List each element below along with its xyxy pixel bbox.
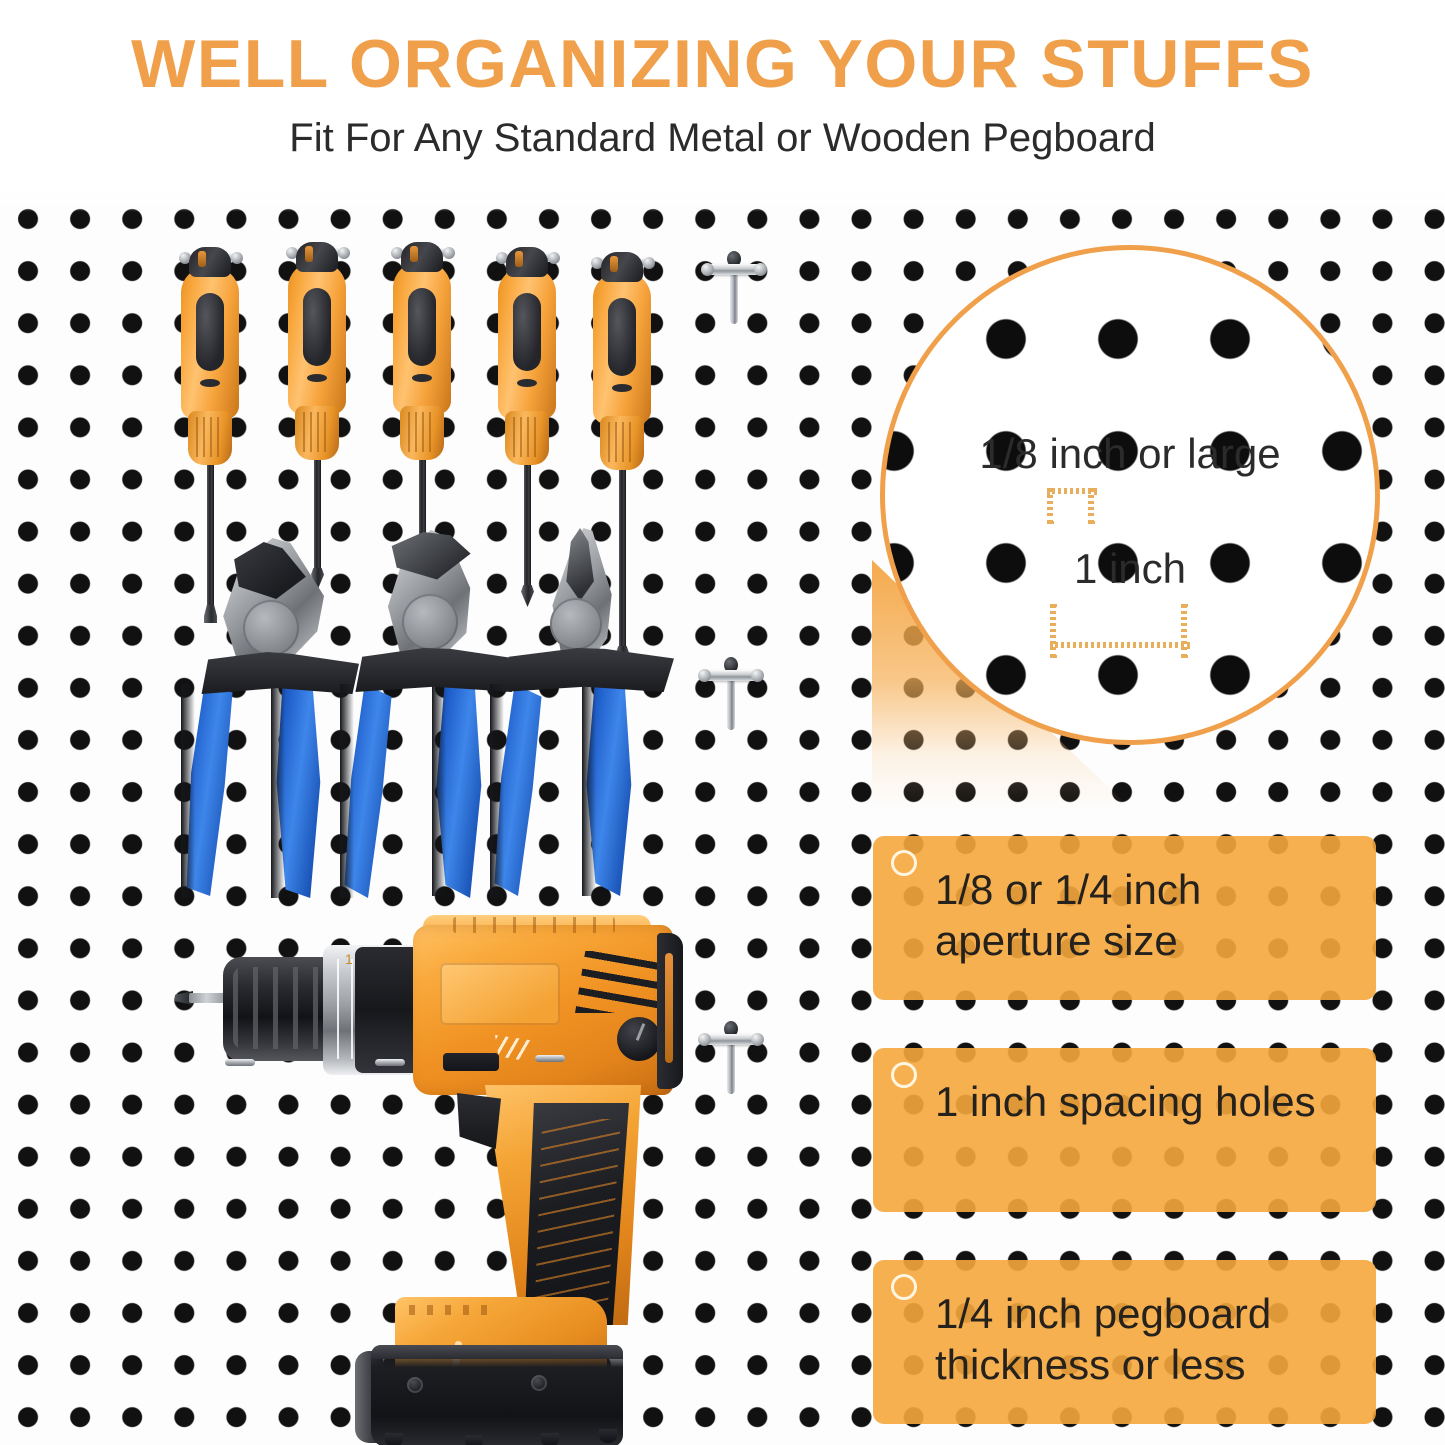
drill-battery-screw [407, 1377, 423, 1393]
peg-hook-wire [225, 1059, 255, 1066]
peg-hook-tip-left [701, 263, 714, 276]
screwdriver-grip-insert [408, 288, 436, 366]
drill-battery-top-edge [371, 1345, 623, 1359]
screwdriver-cap-slot [198, 251, 206, 267]
drill-battery-screw [531, 1375, 547, 1391]
feature-text: 1 inch spacing holes [935, 1076, 1355, 1127]
drill-rear-accent [665, 953, 673, 1063]
drill-top-ribs [453, 917, 615, 933]
screwdriver-cap [401, 242, 443, 272]
screwdriver-grip-accent [200, 379, 220, 387]
bullet-ring-icon [891, 1274, 917, 1300]
pliers-handle-edge-right [432, 682, 446, 896]
feature-box-aperture-size[interactable]: 1/8 or 1/4 inch aperture size [873, 836, 1376, 1000]
product-infographic: 1 1 1 1 1 1 1 GFA6-GF30A3E8G+ [0, 0, 1445, 1445]
pegboard-top-fade [0, 178, 1445, 212]
screwdriver-grip-accent [307, 374, 327, 382]
pliers-pivot [243, 600, 299, 656]
cordless-drill: 1 1 1 1 1 1 1 GFA6-GF30A3E8G+ [195, 905, 735, 1445]
drill-chuck-ring [355, 947, 421, 1073]
pliers-handle-edge-right [582, 682, 596, 896]
screwdriver-shaft [207, 461, 214, 611]
peg-hook-tip-right [751, 1033, 764, 1046]
peg-hook-tip-right [751, 669, 764, 682]
screwdriver-ribs [196, 417, 224, 457]
screwdriver-grip-accent [412, 374, 432, 382]
guide-line-bottom [1050, 642, 1190, 648]
screwdriver-shaft [619, 466, 626, 652]
pliers-pivot [550, 598, 602, 650]
guide-line-left [1050, 604, 1056, 658]
peg-hook-stem [730, 268, 738, 324]
screwdriver-shaft [524, 461, 531, 591]
feature-box-hole-spacing[interactable]: 1 inch spacing holes [873, 1048, 1376, 1212]
screwdriver-cap [296, 242, 338, 272]
peg-hook-tip-left [698, 669, 711, 682]
guide-line-left [1047, 488, 1053, 524]
pliers-pivot [402, 594, 458, 650]
screwdriver-ribs [303, 412, 331, 452]
peg-hook-wire [375, 1059, 405, 1066]
bullet-ring-icon [891, 850, 917, 876]
page-subtitle: Fit For Any Standard Metal or Wooden Peg… [0, 118, 1445, 158]
peg-hook-tip-right [443, 247, 455, 259]
screwdriver-ribs [408, 412, 436, 452]
drill-side-panel [440, 963, 560, 1025]
peg-hook-tip-right [338, 247, 350, 259]
magnifier-lens [880, 245, 1380, 745]
peg-hook-tip-right [643, 257, 655, 269]
peg-hook-tip-right [548, 252, 560, 264]
peg-hook-tip-right [231, 252, 243, 264]
peg-hook-tip-right [754, 263, 767, 276]
screwdriver-shaft [314, 456, 321, 574]
guide-line-right [1088, 488, 1094, 524]
drill-trigger [457, 1093, 501, 1149]
screwdriver-grip-accent [517, 379, 537, 387]
drill-battery-vent-dots [409, 1305, 489, 1315]
screwdriver-ribs [608, 422, 636, 462]
peg-hook-wire [535, 1055, 565, 1062]
pliers-handle-edge-right [271, 684, 285, 898]
screwdriver-grip-insert [196, 293, 224, 371]
drill-battery-foot [465, 1435, 483, 1445]
screwdriver-cap-slot [515, 251, 523, 267]
header-band: WELL ORGANIZING YOUR STUFFS Fit For Any … [0, 0, 1445, 178]
screwdriver-grip-accent [612, 384, 632, 392]
drill-battery-pack [371, 1345, 623, 1445]
guide-line-right [1181, 604, 1187, 658]
drill-battery-foot [599, 1429, 617, 1443]
magnifier-spacing-label: 1 inch [880, 545, 1380, 593]
aperture-measure-guide [1047, 488, 1091, 520]
magnifier-aperture-label: 1/8 inch or large [880, 430, 1380, 478]
drill-battery-foot [541, 1433, 559, 1445]
feature-text: 1/8 or 1/4 inch aperture size [935, 864, 1355, 966]
drill-battery-foot [385, 1433, 403, 1445]
spacing-measure-guide [1050, 604, 1184, 654]
screwdriver-cap-slot [410, 246, 418, 262]
feature-text: 1/4 inch pegboard thickness or less [935, 1288, 1355, 1390]
screwdriver-ribs [513, 417, 541, 457]
feature-box-pegboard-thickness[interactable]: 1/4 inch pegboard thickness or less [873, 1260, 1376, 1424]
screwdriver-grip-insert [303, 288, 331, 366]
peg-hook-stem [727, 674, 735, 730]
pliers-handle-edge-left [490, 684, 504, 898]
screwdriver-cap [506, 247, 548, 277]
drill-vents [575, 951, 661, 1013]
screwdriver-cap-slot [610, 256, 618, 272]
pliers-handle-edge-left [340, 684, 354, 898]
page-title: WELL ORGANIZING YOUR STUFFS [0, 30, 1445, 98]
screwdriver-cap [601, 252, 643, 282]
screwdriver-cap-slot [305, 246, 313, 262]
drill-forward-reverse-switch [443, 1053, 499, 1071]
screwdriver-grip-insert [608, 298, 636, 376]
pliers-handle-edge-left [181, 684, 195, 898]
screwdriver-cap [189, 247, 231, 277]
bullet-ring-icon [891, 1062, 917, 1088]
screwdriver-grip-insert [513, 293, 541, 371]
